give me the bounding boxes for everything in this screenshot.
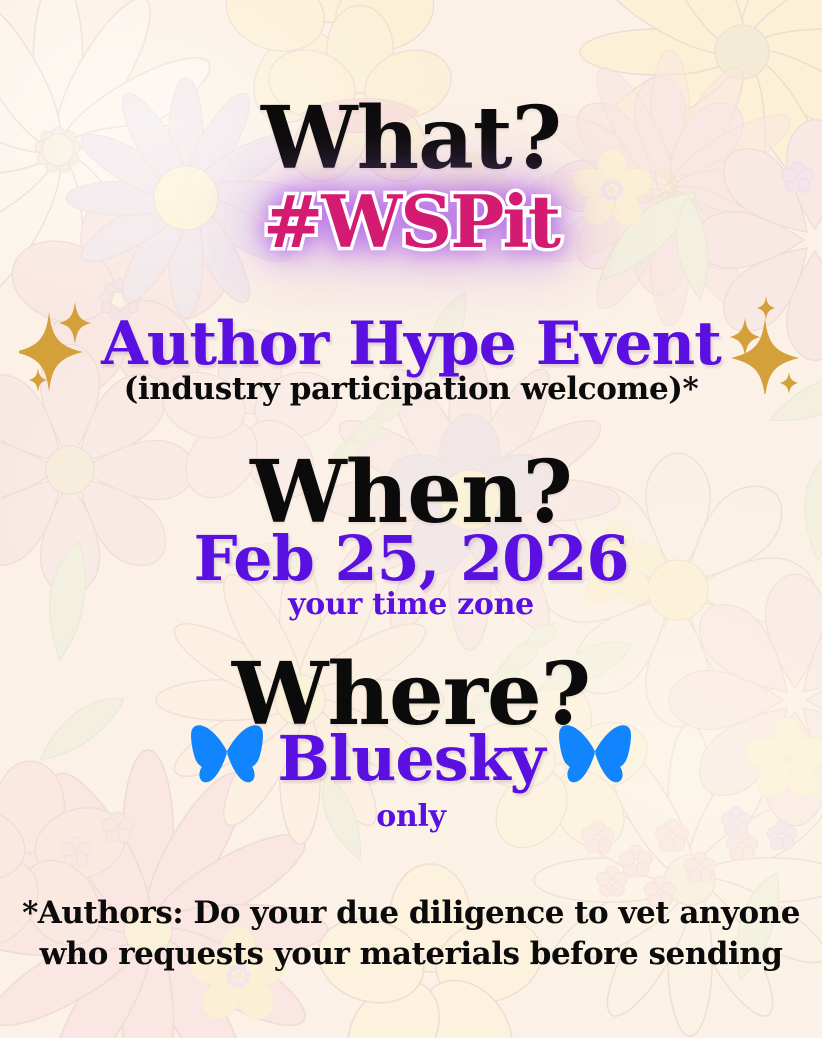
event-name: Author Hype Event	[101, 314, 721, 374]
bluesky-butterfly-icon-right	[559, 723, 631, 794]
hashtag-wspit: #WSPit	[263, 186, 559, 258]
platform-row: Bluesky	[0, 723, 822, 794]
bluesky-butterfly-icon-left	[191, 723, 263, 794]
hashtag-row: #WSPit	[0, 186, 822, 258]
footnote-line-1: *Authors: Do your due diligence to vet a…	[0, 893, 822, 934]
industry-note: (industry participation welcome)*	[0, 374, 822, 405]
timezone-note: your time zone	[0, 590, 822, 620]
platform-qualifier: only	[0, 802, 822, 832]
what-heading: What?	[0, 96, 822, 182]
platform-name: Bluesky	[277, 728, 544, 790]
poster-canvas: What? #WSPit Author Hype Event	[0, 0, 822, 1038]
footnote-line-2: who requests your materials before sendi…	[0, 934, 822, 975]
event-date: Feb 25, 2026	[0, 528, 822, 590]
